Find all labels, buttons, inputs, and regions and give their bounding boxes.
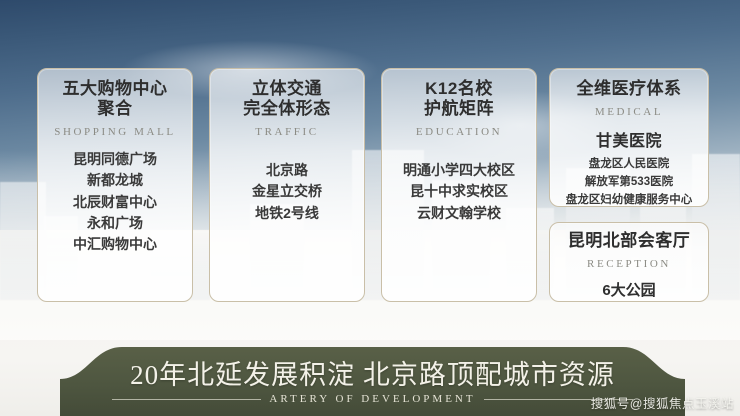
card-item-list: 6大公园 <box>556 279 702 300</box>
card-item-list: 盘龙区人民医院 解放军第533医院 盘龙区妇幼健康服务中心 <box>556 155 702 209</box>
watermark: 搜狐号@搜狐焦点玉溪站 <box>591 393 734 412</box>
card-subtitle: EDUCATION <box>388 126 530 138</box>
card-medical[interactable]: 全维医疗体系 MEDICAL 甘美医院 盘龙区人民医院 解放军第533医院 盘龙… <box>549 68 709 207</box>
card-shopping[interactable]: 五大购物中心 聚合 SHOPPING MALL 昆明同德广场 新都龙城 北辰财富… <box>37 68 193 302</box>
card-item-list: 昆明同德广场 新都龙城 北辰财富中心 永和广场 中汇购物中心 <box>44 149 186 255</box>
card-subtitle: SHOPPING MALL <box>44 126 186 138</box>
slide-canvas: 五大购物中心 聚合 SHOPPING MALL 昆明同德广场 新都龙城 北辰财富… <box>0 0 740 416</box>
card-item-list: 明通小学四大校区 昆十中求实校区 云财文翰学校 <box>388 160 530 224</box>
card-traffic[interactable]: 立体交通 完全体形态 TRAFFIC 北京路 金星立交桥 地铁2号线 <box>209 68 365 302</box>
banner-headline: 20年北延发展积淀 北京路顶配城市资源 <box>60 353 685 392</box>
card-subtitle: MEDICAL <box>556 106 702 118</box>
card-education[interactable]: K12名校 护航矩阵 EDUCATION 明通小学四大校区 昆十中求实校区 云财… <box>381 68 537 302</box>
card-title: 立体交通 完全体形态 <box>216 79 358 119</box>
card-subtitle: TRAFFIC <box>216 126 358 138</box>
card-subtitle: RECEPTION <box>556 258 702 270</box>
card-lead-item: 甘美医院 <box>556 127 702 151</box>
card-title: 五大购物中心 聚合 <box>44 79 186 119</box>
card-title: 昆明北部会客厅 <box>556 231 702 251</box>
card-reception[interactable]: 昆明北部会客厅 RECEPTION 6大公园 <box>549 222 709 302</box>
card-title: 全维医疗体系 <box>556 79 702 99</box>
card-title: K12名校 护航矩阵 <box>388 79 530 119</box>
banner-subline: ARTERY OF DEVELOPMENT <box>269 393 475 405</box>
card-item-list: 北京路 金星立交桥 地铁2号线 <box>216 160 358 224</box>
banner-rule-left <box>112 399 261 400</box>
